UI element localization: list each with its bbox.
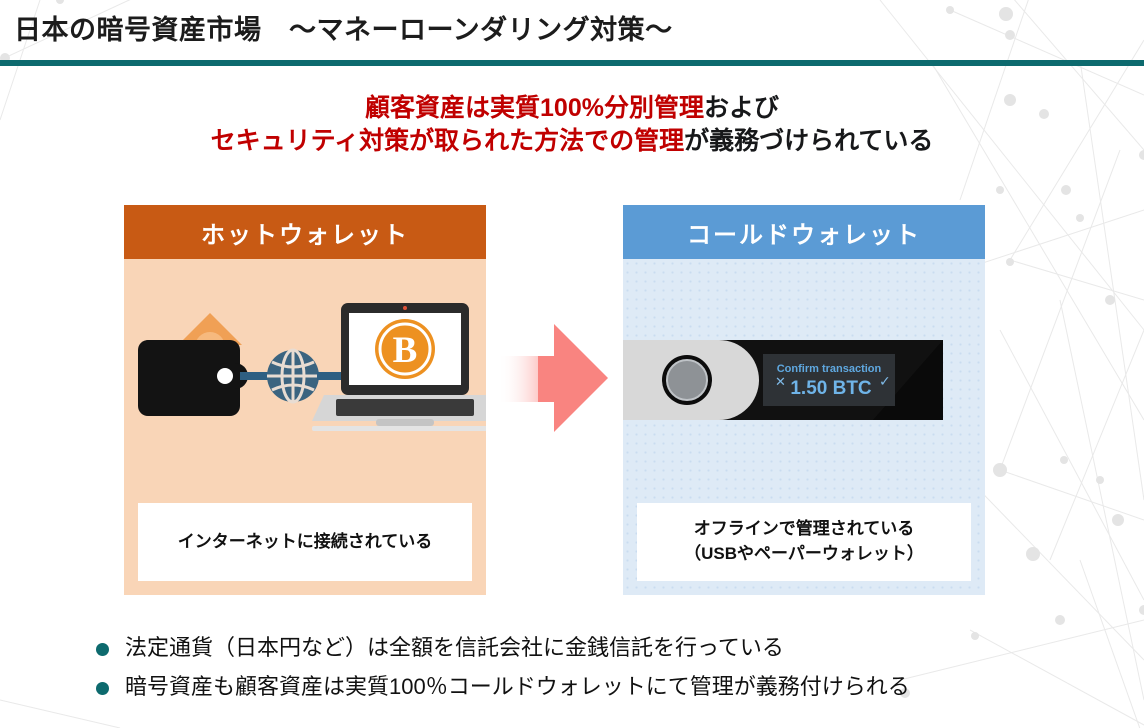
subtitle-line-2-highlight: セキュリティ対策が取られた方法での管理 bbox=[211, 127, 685, 155]
list-item: 暗号資産も顧客資産は実質100％コールドウォレットにて管理が義務付けられる bbox=[96, 671, 1136, 703]
cold-wallet-panel: コールドウォレット Confirm transaction 1.50 BTC ✕… bbox=[623, 205, 985, 595]
hot-wallet-panel: ホットウォレット B bbox=[124, 205, 486, 595]
bullet-dot-icon bbox=[96, 682, 109, 695]
svg-text:B: B bbox=[393, 330, 418, 371]
bullet-text: 暗号資産も顧客資産は実質100％コールドウォレットにて管理が義務付けられる bbox=[125, 671, 910, 703]
hot-wallet-illustration: B bbox=[124, 277, 486, 477]
subtitle-line-1: 顧客資産は実質100%分別管理および bbox=[0, 92, 1144, 125]
title-underline-rule bbox=[0, 60, 1144, 66]
bullet-list: 法定通貨（日本円など）は全額を信託会社に金銭信託を行っている 暗号資産も顧客資産… bbox=[96, 632, 1136, 710]
device-screen-title: Confirm transaction bbox=[777, 363, 882, 375]
wallet-icon bbox=[138, 340, 248, 416]
hot-wallet-header: ホットウォレット bbox=[124, 205, 486, 259]
cold-wallet-caption: オフラインで管理されている （USBやペーパーウォレット） bbox=[637, 503, 971, 581]
cold-wallet-header: コールドウォレット bbox=[623, 205, 985, 259]
subtitle-block: 顧客資産は実質100%分別管理および セキュリティ対策が取られた方法での管理が義… bbox=[0, 92, 1144, 159]
subtitle-line-1-plain: および bbox=[704, 94, 779, 122]
globe-icon bbox=[267, 350, 319, 402]
bullet-text: 法定通貨（日本円など）は全額を信託会社に金銭信託を行っている bbox=[125, 632, 784, 664]
hot-wallet-caption-text: インターネットに接続されている bbox=[178, 530, 433, 555]
cold-wallet-illustration: Confirm transaction 1.50 BTC ✕ ✓ bbox=[623, 330, 985, 430]
subtitle-line-1-highlight: 顧客資産は実質100%分別管理 bbox=[365, 94, 704, 122]
connection-line-left bbox=[240, 372, 268, 380]
connection-line-right bbox=[317, 372, 345, 380]
bullet-dot-icon bbox=[96, 643, 109, 656]
device-screen-amount: 1.50 BTC bbox=[790, 378, 872, 399]
reject-glyph-icon: ✕ bbox=[775, 374, 786, 389]
subtitle-line-2-plain: が義務づけられている bbox=[684, 127, 933, 155]
list-item: 法定通貨（日本円など）は全額を信託会社に金銭信託を行っている bbox=[96, 632, 1136, 664]
approve-glyph-icon: ✓ bbox=[879, 373, 891, 389]
cold-caption-line-2: （USBやペーパーウォレット） bbox=[684, 544, 924, 563]
laptop-icon: B bbox=[312, 303, 486, 431]
page-title: 日本の暗号資産市場 ～マネーローンダリング対策～ bbox=[14, 8, 673, 47]
right-arrow-icon bbox=[498, 322, 618, 434]
title-bar: 日本の暗号資産市場 ～マネーローンダリング対策～ bbox=[0, 0, 1144, 66]
subtitle-line-2: セキュリティ対策が取られた方法での管理が義務づけられている bbox=[0, 125, 1144, 158]
cold-caption-line-1: オフラインで管理されている bbox=[694, 519, 915, 538]
hardware-wallet-icon: Confirm transaction 1.50 BTC ✕ ✓ bbox=[623, 340, 943, 420]
hot-wallet-caption: インターネットに接続されている bbox=[138, 503, 472, 581]
cold-wallet-caption-text: オフラインで管理されている （USBやペーパーウォレット） bbox=[684, 517, 924, 566]
